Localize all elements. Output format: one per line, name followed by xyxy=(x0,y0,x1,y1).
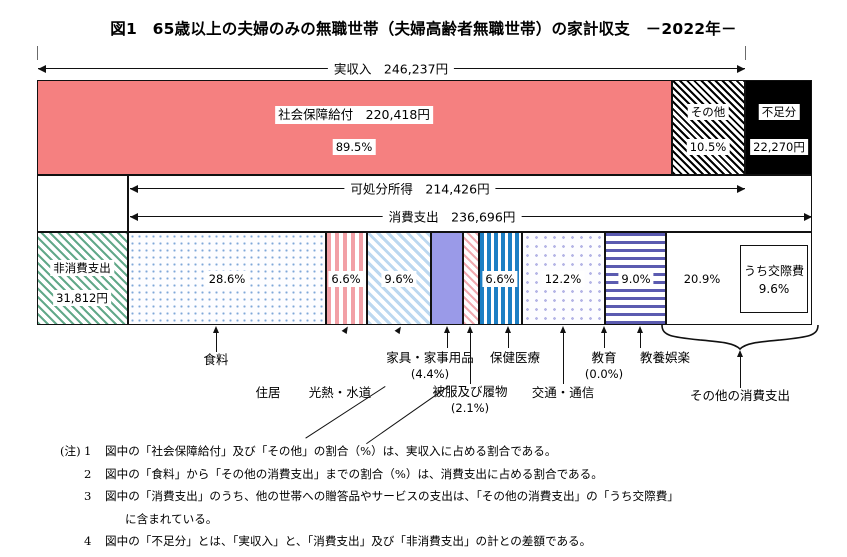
leader-furniture xyxy=(447,332,448,348)
page-title: 図1 65歳以上の夫婦のみの無職世帯（夫婦高齢者無職世帯）の家計収支 －2022… xyxy=(0,17,847,39)
caption-clothing-percent: (2.1%) xyxy=(432,401,507,417)
leader-food xyxy=(216,332,217,352)
caption-education-text: 教育 xyxy=(591,350,616,365)
note-num-1: 1 xyxy=(84,440,91,463)
middle-band-left-cell xyxy=(37,175,128,232)
leader-head-health xyxy=(505,326,511,333)
leader-culture xyxy=(640,332,641,348)
note-text-1: 図中の「社会保障給付」及び「その他」の割合（%）は、実収入に占める割合である。 xyxy=(105,444,556,458)
social-security-percent: 89.5% xyxy=(333,139,376,155)
leader-head-food xyxy=(213,326,219,333)
segment-furniture xyxy=(431,232,463,325)
segment-other-income xyxy=(672,80,745,175)
leader-head-furniture xyxy=(444,326,450,333)
caption-culture: 教養娯楽 xyxy=(640,350,690,367)
leader-head-clothing xyxy=(467,326,473,333)
income-span-label: 実収入 246,237円 xyxy=(328,59,454,78)
caption-education-percent: (0.0%) xyxy=(585,367,623,383)
notes-head-row: (注) 1 図中の「社会保障給付」及び「その他」の割合（%）は、実収入に占める割… xyxy=(0,440,847,463)
caption-housing: 住居 xyxy=(255,385,280,402)
tick-right-income xyxy=(745,46,746,60)
disposable-income-label: 可処分所得 214,426円 xyxy=(344,179,495,198)
non-consumption-amount: 31,812円 xyxy=(53,290,111,306)
transport-percent: 12.2% xyxy=(542,271,585,287)
note-num-4: 4 xyxy=(84,530,91,553)
note-text-4: 図中の「不足分」とは、「実収入」と、「消費支出」及び「非消費支出」の計との差額で… xyxy=(105,534,591,548)
socializing-label: うち交際費 xyxy=(744,262,804,279)
leader-head-education xyxy=(601,326,607,333)
other-income-label: その他 xyxy=(688,104,729,120)
health-percent: 6.6% xyxy=(482,271,517,287)
other-consumption-percent: 20.9% xyxy=(681,271,724,287)
leader-head-culture xyxy=(637,326,643,333)
housing-percent: 6.6% xyxy=(328,271,363,287)
food-percent: 28.6% xyxy=(206,271,249,287)
caption-furniture-percent: (4.4%) xyxy=(386,367,474,383)
tick-left-income xyxy=(37,46,38,60)
leader-other-consumption xyxy=(740,356,741,388)
segment-shortfall xyxy=(745,80,812,175)
leader-head-utilities xyxy=(395,325,404,334)
leader-education xyxy=(604,332,605,348)
note-row-2: 2 図中の「食料」から「その他の消費支出」までの割合（%）は、消費支出に占める割… xyxy=(0,463,847,486)
other-income-percent: 10.5% xyxy=(687,139,730,155)
caption-health: 保健医療 xyxy=(490,350,540,367)
note-row-3: 3 図中の「消費支出」のうち、他の世帯への贈答品やサービスの支出は、「その他の消… xyxy=(0,485,847,508)
social-security-label: 社会保障給付 220,418円 xyxy=(275,106,433,124)
socializing-box: うち交際費 9.6% xyxy=(740,245,808,313)
shortfall-amount: 22,270円 xyxy=(750,139,808,155)
utilities-percent: 9.6% xyxy=(381,271,416,287)
segment-non-consumption xyxy=(37,232,128,325)
caption-furniture-text: 家具・家事用品 xyxy=(386,350,474,365)
leader-health xyxy=(508,332,509,348)
notes-head: (注) xyxy=(60,440,81,463)
caption-furniture: 家具・家事用品 (4.4%) xyxy=(386,350,474,382)
caption-clothing: 被服及び履物 (2.1%) xyxy=(432,384,507,416)
leader-clothing xyxy=(470,332,471,384)
caption-utilities: 光熱・水道 xyxy=(309,385,372,402)
note-num-3: 3 xyxy=(84,485,91,508)
leader-head-transport xyxy=(560,326,566,333)
notes-block: (注) 1 図中の「社会保障給付」及び「その他」の割合（%）は、実収入に占める割… xyxy=(0,440,847,553)
note-text-2: 図中の「食料」から「その他の消費支出」までの割合（%）は、消費支出に占める割合で… xyxy=(105,467,603,481)
segment-clothing xyxy=(463,232,479,325)
note-text-3: 図中の「消費支出」のうち、他の世帯への贈答品やサービスの支出は、「その他の消費支… xyxy=(105,489,679,503)
segment-social-security xyxy=(37,80,672,175)
note-row-3-cont: に含まれている。 xyxy=(0,508,847,531)
leader-transport xyxy=(563,332,564,384)
caption-transport: 交通・通信 xyxy=(532,385,595,402)
shortfall-label: 不足分 xyxy=(759,104,800,120)
note-num-2: 2 xyxy=(84,463,91,486)
leader-head-other-consumption xyxy=(737,350,743,357)
socializing-percent: 9.6% xyxy=(759,282,790,296)
other-consumption-brace xyxy=(660,324,820,350)
note-row-4: 4 図中の「不足分」とは、「実収入」と、「消費支出」及び「非消費支出」の計との差… xyxy=(0,530,847,553)
figure-root: 図1 65歳以上の夫婦のみの無職世帯（夫婦高齢者無職世帯）の家計収支 －2022… xyxy=(0,0,847,557)
caption-education: 教育 (0.0%) xyxy=(585,350,623,382)
leader-head-housing xyxy=(342,325,351,334)
culture-percent: 9.0% xyxy=(618,271,653,287)
caption-clothing-text: 被服及び履物 xyxy=(432,384,507,399)
consumption-expenditure-label: 消費支出 236,696円 xyxy=(383,207,522,226)
caption-food: 食料 xyxy=(203,352,228,369)
non-consumption-label: 非消費支出 xyxy=(50,260,114,276)
caption-other-consumption: その他の消費支出 xyxy=(690,388,790,405)
